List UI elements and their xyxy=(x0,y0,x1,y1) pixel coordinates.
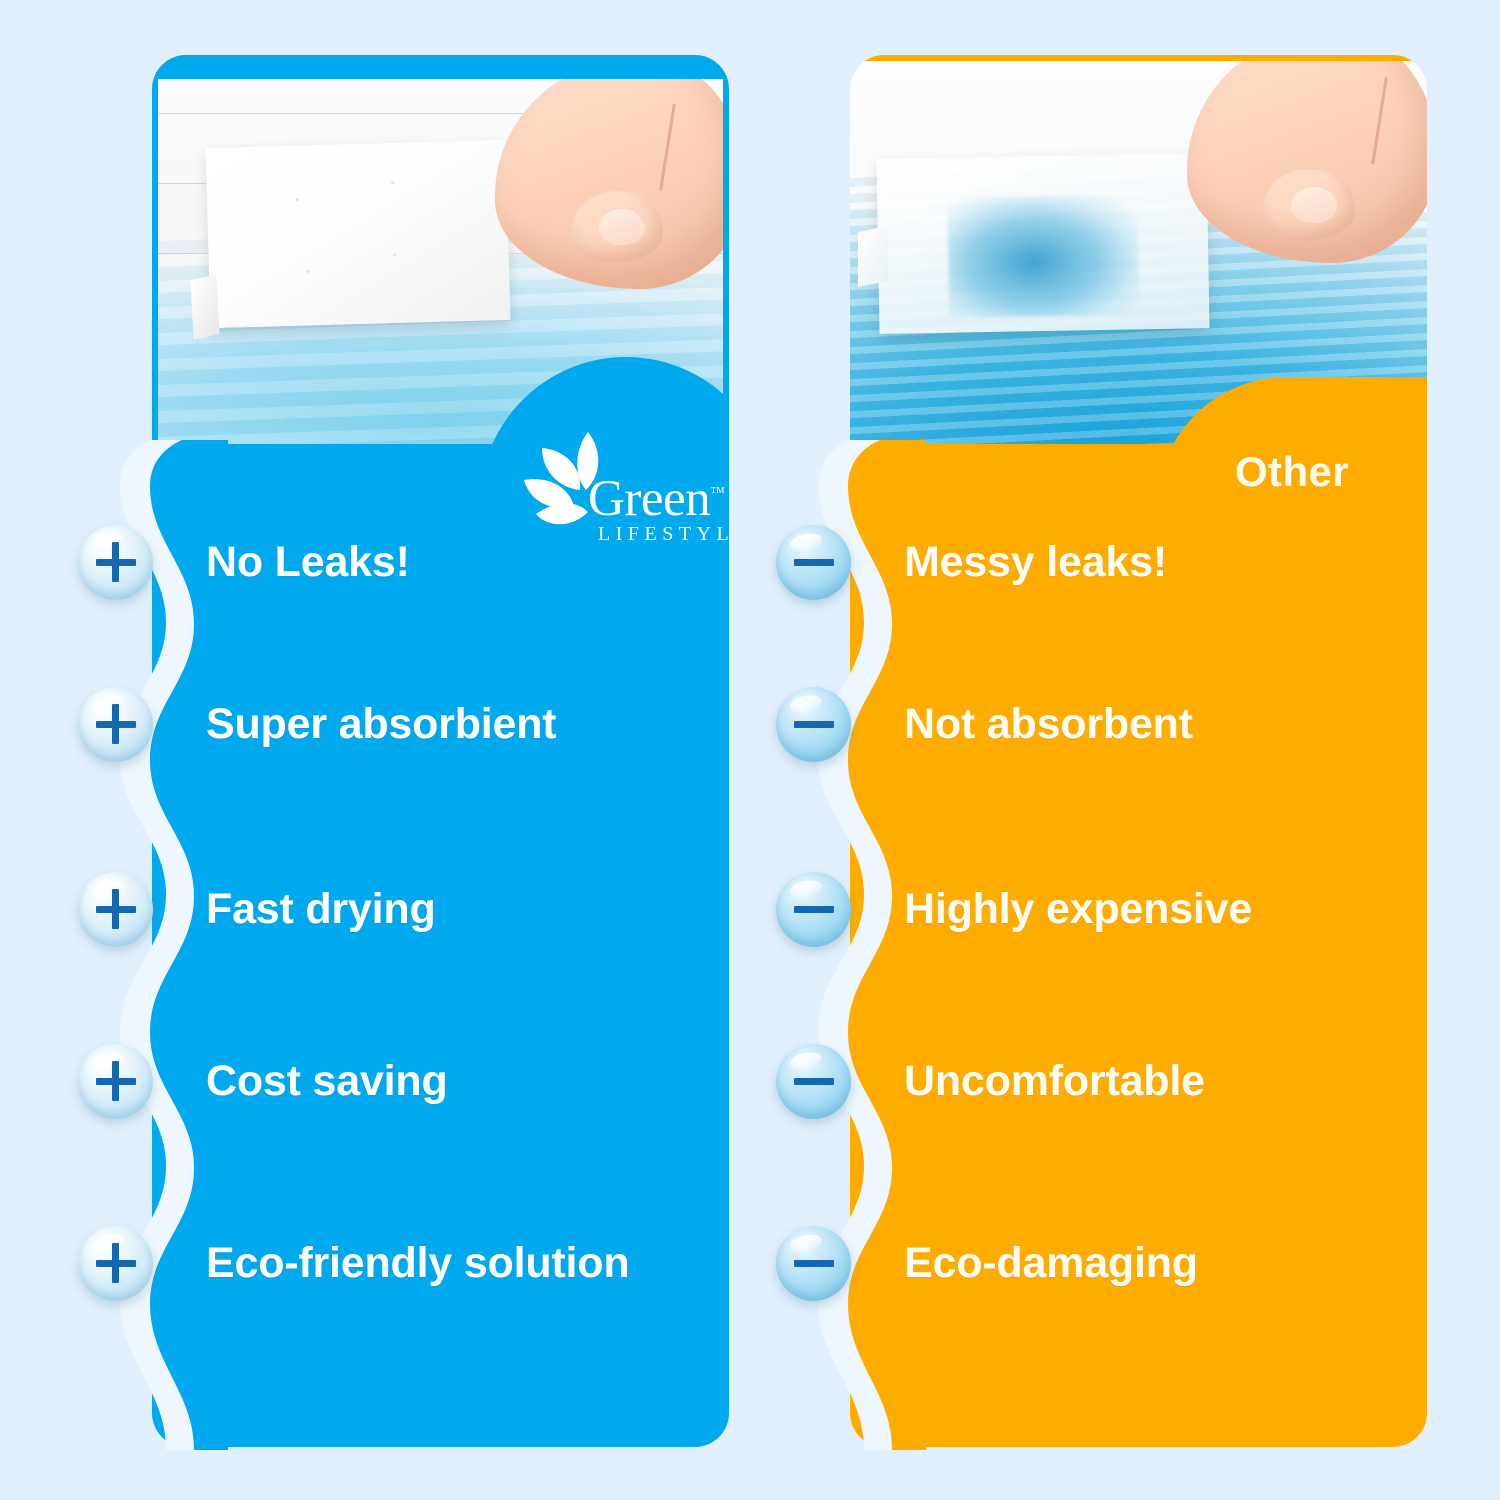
feature-row-left-1[interactable]: No Leaks! xyxy=(78,514,410,610)
feature-label: Super absorbient xyxy=(206,700,556,749)
plus-sign-icon xyxy=(78,1226,153,1301)
minus-sign-icon xyxy=(776,872,851,947)
feature-label: No Leaks! xyxy=(206,538,410,587)
minus-sign-icon xyxy=(776,1044,851,1119)
feature-row-right-2[interactable]: Not absorbent xyxy=(776,676,1193,772)
feature-row-left-3[interactable]: Fast drying xyxy=(78,861,436,957)
minus-glyph xyxy=(776,687,851,762)
feature-row-left-2[interactable]: Super absorbient xyxy=(78,676,556,772)
feature-row-left-4[interactable]: Cost saving xyxy=(78,1033,448,1129)
feature-row-left-5[interactable]: Eco-friendly solution xyxy=(78,1215,629,1311)
feature-row-right-5[interactable]: Eco-damaging xyxy=(776,1215,1198,1311)
minus-glyph xyxy=(776,1044,851,1119)
plus-glyph xyxy=(78,1044,153,1119)
plus-glyph xyxy=(78,687,153,762)
minus-glyph xyxy=(776,525,851,600)
feature-row-right-4[interactable]: Uncomfortable xyxy=(776,1033,1205,1129)
minus-sign-icon xyxy=(776,1226,851,1301)
minus-sign-icon xyxy=(776,525,851,600)
feature-row-right-3[interactable]: Highly expensive xyxy=(776,861,1252,957)
minus-sign-icon xyxy=(776,687,851,762)
plus-glyph xyxy=(78,872,153,947)
plus-glyph xyxy=(78,525,153,600)
feature-rows: No Leaks! Super absorbient Fast drying C… xyxy=(0,0,1500,1500)
plus-sign-icon xyxy=(78,1044,153,1119)
feature-label: Highly expensive xyxy=(904,885,1252,934)
feature-label: Eco-damaging xyxy=(904,1239,1198,1288)
feature-row-right-1[interactable]: Messy leaks! xyxy=(776,514,1167,610)
feature-label: Fast drying xyxy=(206,885,436,934)
plus-glyph xyxy=(78,1226,153,1301)
minus-glyph xyxy=(776,1226,851,1301)
feature-label: Eco-friendly solution xyxy=(206,1239,629,1288)
feature-label: Uncomfortable xyxy=(904,1057,1205,1106)
feature-label: Messy leaks! xyxy=(904,538,1167,587)
plus-sign-icon xyxy=(78,872,153,947)
feature-label: Not absorbent xyxy=(904,700,1193,749)
feature-label: Cost saving xyxy=(206,1057,448,1106)
plus-sign-icon xyxy=(78,525,153,600)
plus-sign-icon xyxy=(78,687,153,762)
comparison-infographic: Green™ LIFESTYLE Other xyxy=(0,0,1500,1500)
minus-glyph xyxy=(776,872,851,947)
